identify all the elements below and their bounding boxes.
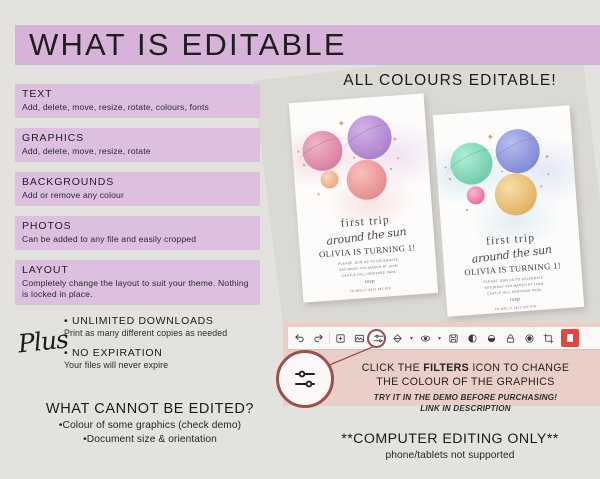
sparkle-star: ✦ (337, 119, 345, 129)
callout-line-2: THE COLOUR OF THE GRAPHICS (333, 376, 598, 390)
plus-item-head: • NO EXPIRATION (64, 347, 264, 360)
footer-block: **COMPUTER EDITING ONLY** phone/tablets … (300, 430, 600, 463)
sparkle-star: ✦ (486, 133, 494, 143)
undo-icon[interactable] (290, 329, 309, 348)
page-title: WHAT IS EDITABLE (29, 28, 347, 62)
filters-icon-highlight-ring (367, 329, 386, 348)
infographic-root: WHAT IS EDITABLE TEXT Add, delete, move,… (0, 0, 600, 479)
magnified-filters-icon (276, 350, 334, 408)
callout-filters-word: FILTERS (423, 362, 469, 374)
feature-desc: Add, delete, move, resize, rotate (22, 146, 254, 157)
plus-script-label: Plus (17, 324, 70, 358)
plus-item: • UNLIMITED DOWNLOADS Print as many diff… (64, 315, 264, 339)
crop-save-icon[interactable] (444, 329, 463, 348)
feature-row-graphics: GRAPHICS Add, delete, move, resize, rota… (15, 128, 260, 162)
plus-item-sub: Print as many different copies as needed (64, 328, 264, 339)
gold-confetti (297, 151, 299, 153)
feature-title: BACKGROUNDS (22, 176, 254, 189)
gold-confetti (455, 174, 457, 176)
gold-confetti (547, 173, 549, 175)
feature-title: GRAPHICS (22, 132, 254, 145)
invitation-card-pink: ✦ ✦ ✦ first trip around the sun OLIVIA I… (289, 93, 438, 302)
cannot-edit-title: WHAT CANNOT BE EDITED? (0, 400, 300, 419)
chevron-down-icon[interactable]: ▾ (407, 329, 416, 348)
callout-italic-2: LINK IN DESCRIPTION (333, 403, 598, 414)
callout-text: CLICK THE FILTERS ICON TO CHANGE THE COL… (333, 362, 598, 414)
feature-row-text: TEXT Add, delete, move, resize, rotate, … (15, 84, 260, 118)
contrast-icon[interactable] (463, 329, 482, 348)
editor-toolbar[interactable]: ▾ ▾ (288, 327, 600, 349)
feature-title: TEXT (22, 88, 254, 101)
callout-italic-1: TRY IT IN THE DEMO BEFORE PURCHASING! (333, 392, 598, 403)
callout-line-1: CLICK THE FILTERS ICON TO CHANGE (333, 362, 598, 376)
cannot-edit-line: •Colour of some graphics (check demo) (0, 419, 300, 433)
duplicate-icon[interactable] (331, 329, 350, 348)
adjust-icon[interactable] (388, 329, 407, 348)
plus-item: • NO EXPIRATION Your files will never ex… (64, 347, 264, 371)
delete-icon[interactable] (561, 329, 579, 347)
plus-item-sub: Your files will never expire (64, 360, 264, 371)
plus-list: • UNLIMITED DOWNLOADS Print as many diff… (64, 315, 264, 379)
gold-confetti (390, 168, 392, 170)
feature-row-backgrounds: BACKGROUNDS Add or remove any colour (15, 172, 260, 206)
toolbar-divider (329, 332, 330, 344)
gold-confetti (353, 157, 355, 159)
gold-confetti (540, 185, 542, 187)
shadow-icon[interactable] (482, 329, 501, 348)
delete-glyph (567, 334, 573, 342)
cannot-edit-line: •Document size & orientation (0, 433, 300, 447)
callout-line1-pre: CLICK THE (362, 362, 424, 374)
feature-row-layout: LAYOUT Completely change the layout to s… (15, 260, 260, 305)
sparkle-star: ✦ (301, 162, 307, 171)
gold-confetti (466, 209, 468, 211)
lock-icon[interactable] (501, 329, 520, 348)
gold-confetti (318, 193, 320, 195)
chevron-down-icon[interactable]: ▾ (435, 329, 444, 348)
gold-confetti (378, 147, 380, 149)
gold-confetti (337, 152, 339, 154)
invitation-card-blue: ✦ ✦ ✦ first trip around the sun OLIVIA I… (433, 105, 584, 316)
plus-item-head: • UNLIMITED DOWNLOADS (64, 315, 264, 328)
transparency-icon[interactable] (520, 329, 539, 348)
all-colours-heading: ALL COLOURS EDITABLE! (300, 72, 600, 90)
feature-desc: Add or remove any colour (22, 190, 254, 201)
crop-icon[interactable] (539, 329, 558, 348)
footer-title: **COMPUTER EDITING ONLY** (300, 430, 600, 449)
feature-desc: Completely change the layout to suit you… (22, 278, 254, 300)
gold-confetti (397, 157, 399, 159)
feature-row-photos: PHOTOS Can be added to any file and easi… (15, 216, 260, 250)
cannot-edit-block: WHAT CANNOT BE EDITED? •Colour of some g… (0, 400, 300, 446)
feature-title: PHOTOS (22, 220, 254, 233)
redo-icon[interactable] (309, 329, 328, 348)
effects-icon[interactable] (416, 329, 435, 348)
feature-desc: Add, delete, move, resize, rotate, colou… (22, 102, 254, 113)
gold-confetti (307, 157, 309, 159)
feature-desc: Can be added to any file and easily crop… (22, 234, 254, 245)
footer-subtitle: phone/tablets not supported (300, 449, 600, 463)
callout-line1-post: ICON TO CHANGE (469, 362, 569, 374)
sparkle-star: ✦ (447, 176, 453, 185)
gold-confetti (485, 165, 487, 167)
sparkle-star: ✦ (544, 153, 551, 162)
feature-title: LAYOUT (22, 264, 254, 277)
sparkle-star: ✦ (392, 135, 399, 144)
